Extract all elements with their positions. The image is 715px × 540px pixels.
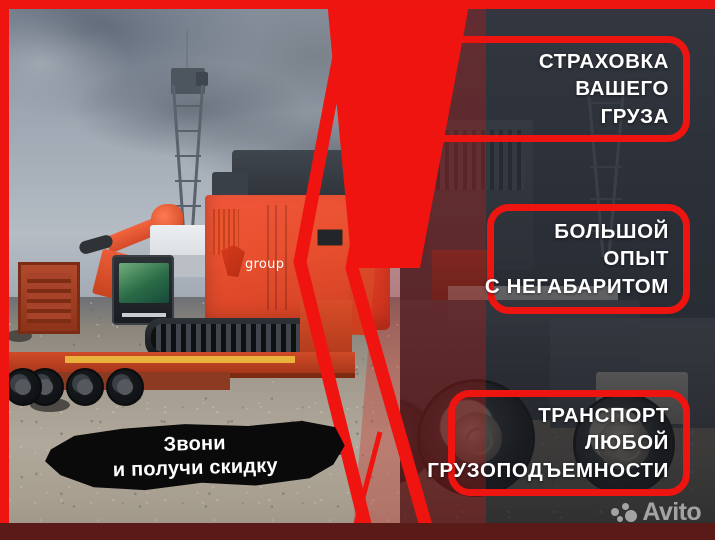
feature-line: СТРАХОВКА (539, 48, 669, 75)
operator-cabin (112, 255, 174, 325)
trailer-wheel (106, 368, 144, 406)
feature-box-experience[interactable]: БОЛЬШОЙ ОПЫТ С НЕГАБАРИТОМ (487, 204, 690, 314)
border-bottom (0, 523, 715, 540)
feature-line: БОЛЬШОЙ (554, 218, 669, 245)
trailer-wheel (66, 368, 104, 406)
antenna-mast (175, 30, 201, 230)
deck-yellow-stripe (65, 356, 295, 363)
brand-logo-text: group (245, 257, 284, 272)
advertisement-banner: group LEOPARD (0, 0, 715, 540)
brand-logomark (221, 245, 245, 277)
stacked-pallets (18, 262, 80, 334)
feature-box-insurance[interactable]: СТРАХОВКА ВАШЕГО ГРУЗА (423, 36, 690, 142)
feature-line: ОПЫТ (603, 245, 669, 272)
border-left (0, 0, 9, 540)
border-top (0, 0, 715, 9)
feature-line: ТРАНСПОРТ (538, 402, 669, 429)
body-window (317, 229, 343, 246)
feature-line: ГРУЗА (601, 103, 669, 130)
feature-box-capacity[interactable]: ТРАНСПОРТ ЛЮБОЙ ГРУЗОПОДЪЕМНОСТИ (448, 390, 690, 496)
call-banner[interactable]: Звони и получи скидку (44, 417, 346, 497)
feature-line: С НЕГАБАРИТОМ (485, 273, 669, 300)
mast-pole (186, 30, 188, 72)
trailer-wheel (4, 368, 42, 406)
cabin-rail (122, 313, 166, 317)
call-banner-line1: Звони (163, 433, 226, 458)
cabin-glass (119, 263, 169, 303)
feature-line: ЛЮБОЙ (585, 429, 669, 456)
feature-line: ВАШЕГО (575, 75, 669, 102)
feature-line: ГРУЗОПОДЪЕМНОСТИ (427, 457, 669, 484)
call-banner-line2: и получи скидку (113, 455, 279, 483)
avito-dots-logo-icon (611, 503, 637, 523)
tail-mast-text: LEOPARD (355, 182, 368, 236)
